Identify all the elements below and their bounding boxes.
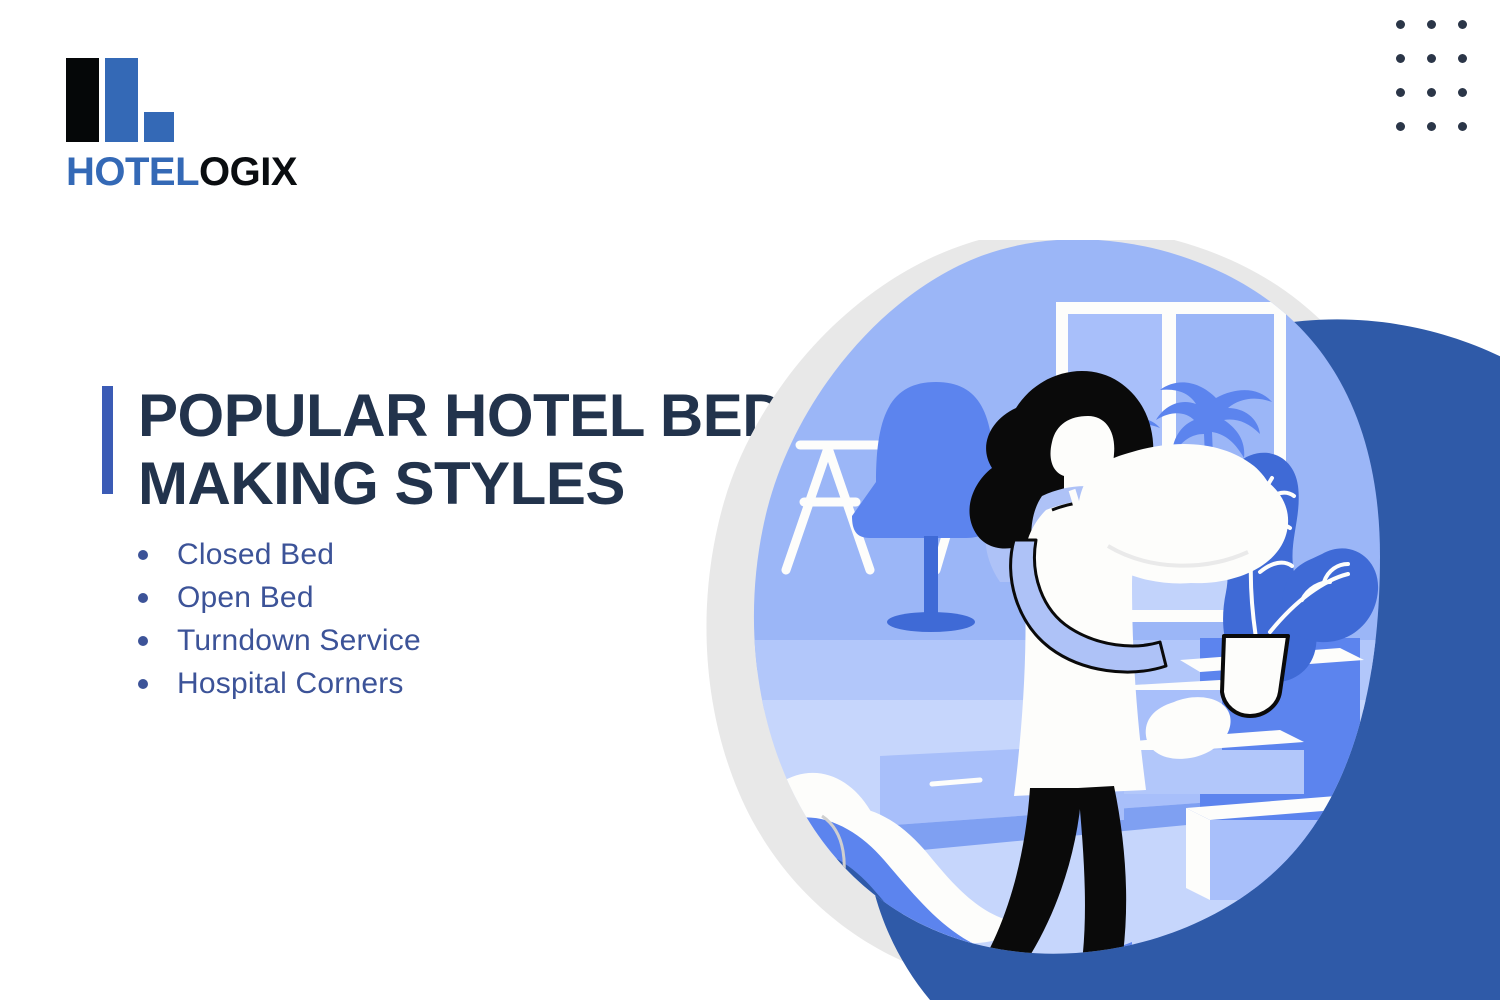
grid-dot [1396, 88, 1405, 97]
list-item: Turndown Service [138, 619, 421, 662]
grid-dot [1458, 54, 1467, 63]
dot-grid-decoration [1396, 20, 1489, 156]
logo-bar-black [66, 58, 99, 142]
grid-dot [1458, 20, 1467, 29]
list-item-label: Closed Bed [177, 538, 334, 572]
brand-wordmark-hotel: HOTEL [66, 150, 199, 194]
list-item-label: Open Bed [177, 581, 314, 615]
bed-style-list: Closed Bed Open Bed Turndown Service Hos… [138, 533, 421, 705]
grid-dot [1396, 20, 1405, 29]
bullet-icon [138, 550, 148, 560]
bullet-icon [138, 593, 148, 603]
logo-bar-blue [105, 58, 138, 142]
logo-bar-square [144, 112, 174, 142]
bar-chart-logo-icon [66, 58, 176, 142]
list-item: Open Bed [138, 576, 421, 619]
grid-dot [1427, 54, 1436, 63]
list-item-label: Turndown Service [177, 624, 421, 658]
grid-dot [1427, 88, 1436, 97]
grid-dot [1427, 20, 1436, 29]
list-item-label: Hospital Corners [177, 667, 404, 701]
brand-wordmark: HOTELOGIX [66, 152, 297, 192]
grid-dot [1458, 122, 1467, 131]
list-item: Closed Bed [138, 533, 421, 576]
bullet-icon [138, 636, 148, 646]
grid-dot [1427, 122, 1436, 131]
grid-dot [1396, 54, 1405, 63]
brand-logo[interactable]: HOTELOGIX [66, 58, 326, 198]
list-item: Hospital Corners [138, 662, 421, 705]
bullet-icon [138, 679, 148, 689]
grid-dot [1458, 88, 1467, 97]
headline-accent-bar [102, 386, 113, 494]
housekeeper-carrying-linens-illustration [680, 240, 1500, 1000]
poster-canvas: HOTELOGIX Popular Hotel Bed-Making Style… [0, 0, 1500, 1000]
grid-dot [1396, 122, 1405, 131]
brand-wordmark-ogix: OGIX [199, 150, 297, 194]
